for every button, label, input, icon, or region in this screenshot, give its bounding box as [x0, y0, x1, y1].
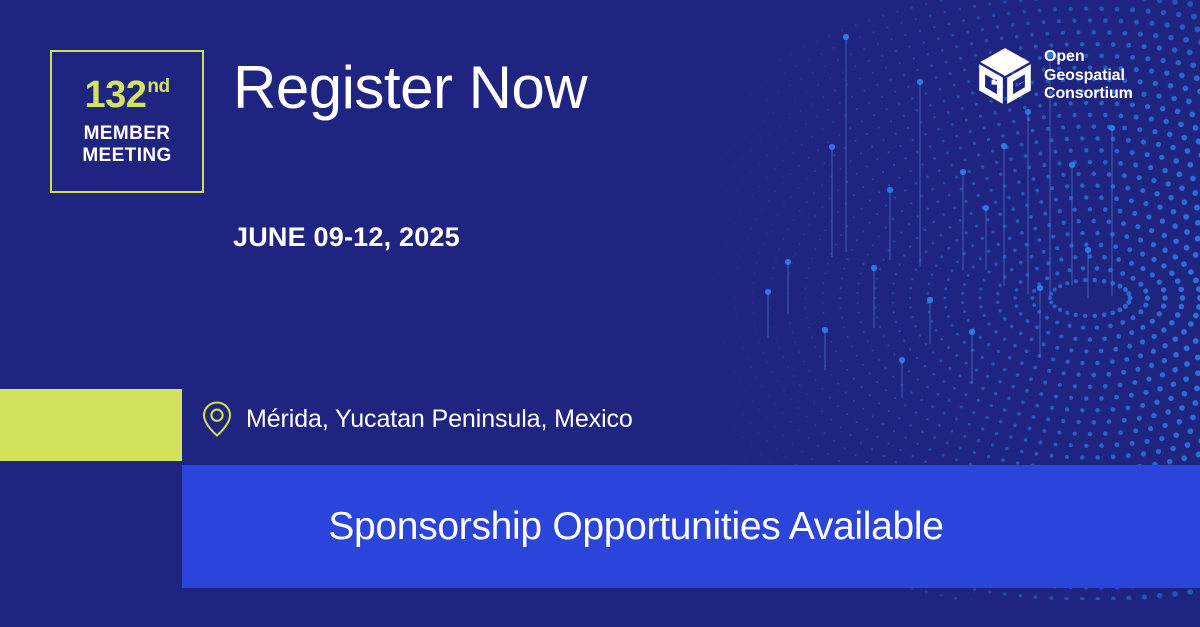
- ogc-wordmark-line2: Geospatial: [1044, 67, 1133, 86]
- sponsorship-banner-text: Sponsorship Opportunities Available: [328, 505, 943, 549]
- ogc-wordmark-line1: Open: [1044, 48, 1133, 67]
- lime-accent-block: [0, 389, 182, 461]
- ogc-cube-icon: [978, 47, 1032, 105]
- meeting-badge-label-line1: MEMBER: [82, 123, 171, 145]
- meeting-badge-label-line2: MEETING: [82, 145, 171, 167]
- ogc-logo: Open Geospatial Consortium: [978, 47, 1133, 105]
- ogc-wordmark-line3: Consortium: [1044, 85, 1133, 104]
- page-title: Register Now: [233, 53, 587, 122]
- event-location: Mérida, Yucatan Peninsula, Mexico: [201, 400, 633, 438]
- meeting-ordinal-number: 132: [84, 76, 146, 114]
- event-date: JUNE 09-12, 2025: [233, 222, 460, 253]
- map-pin-icon: [201, 400, 233, 438]
- ogc-wordmark: Open Geospatial Consortium: [1044, 48, 1133, 104]
- meeting-badge: 132 nd MEMBER MEETING: [50, 50, 204, 193]
- event-promo-banner: 132 nd MEMBER MEETING Register Now JUNE …: [0, 0, 1200, 627]
- meeting-ordinal-suffix: nd: [147, 77, 169, 96]
- meeting-ordinal: 132 nd: [84, 76, 169, 114]
- meeting-badge-label: MEMBER MEETING: [82, 123, 171, 167]
- event-location-text: Mérida, Yucatan Peninsula, Mexico: [246, 405, 633, 434]
- sponsorship-banner[interactable]: Sponsorship Opportunities Available: [182, 465, 1200, 588]
